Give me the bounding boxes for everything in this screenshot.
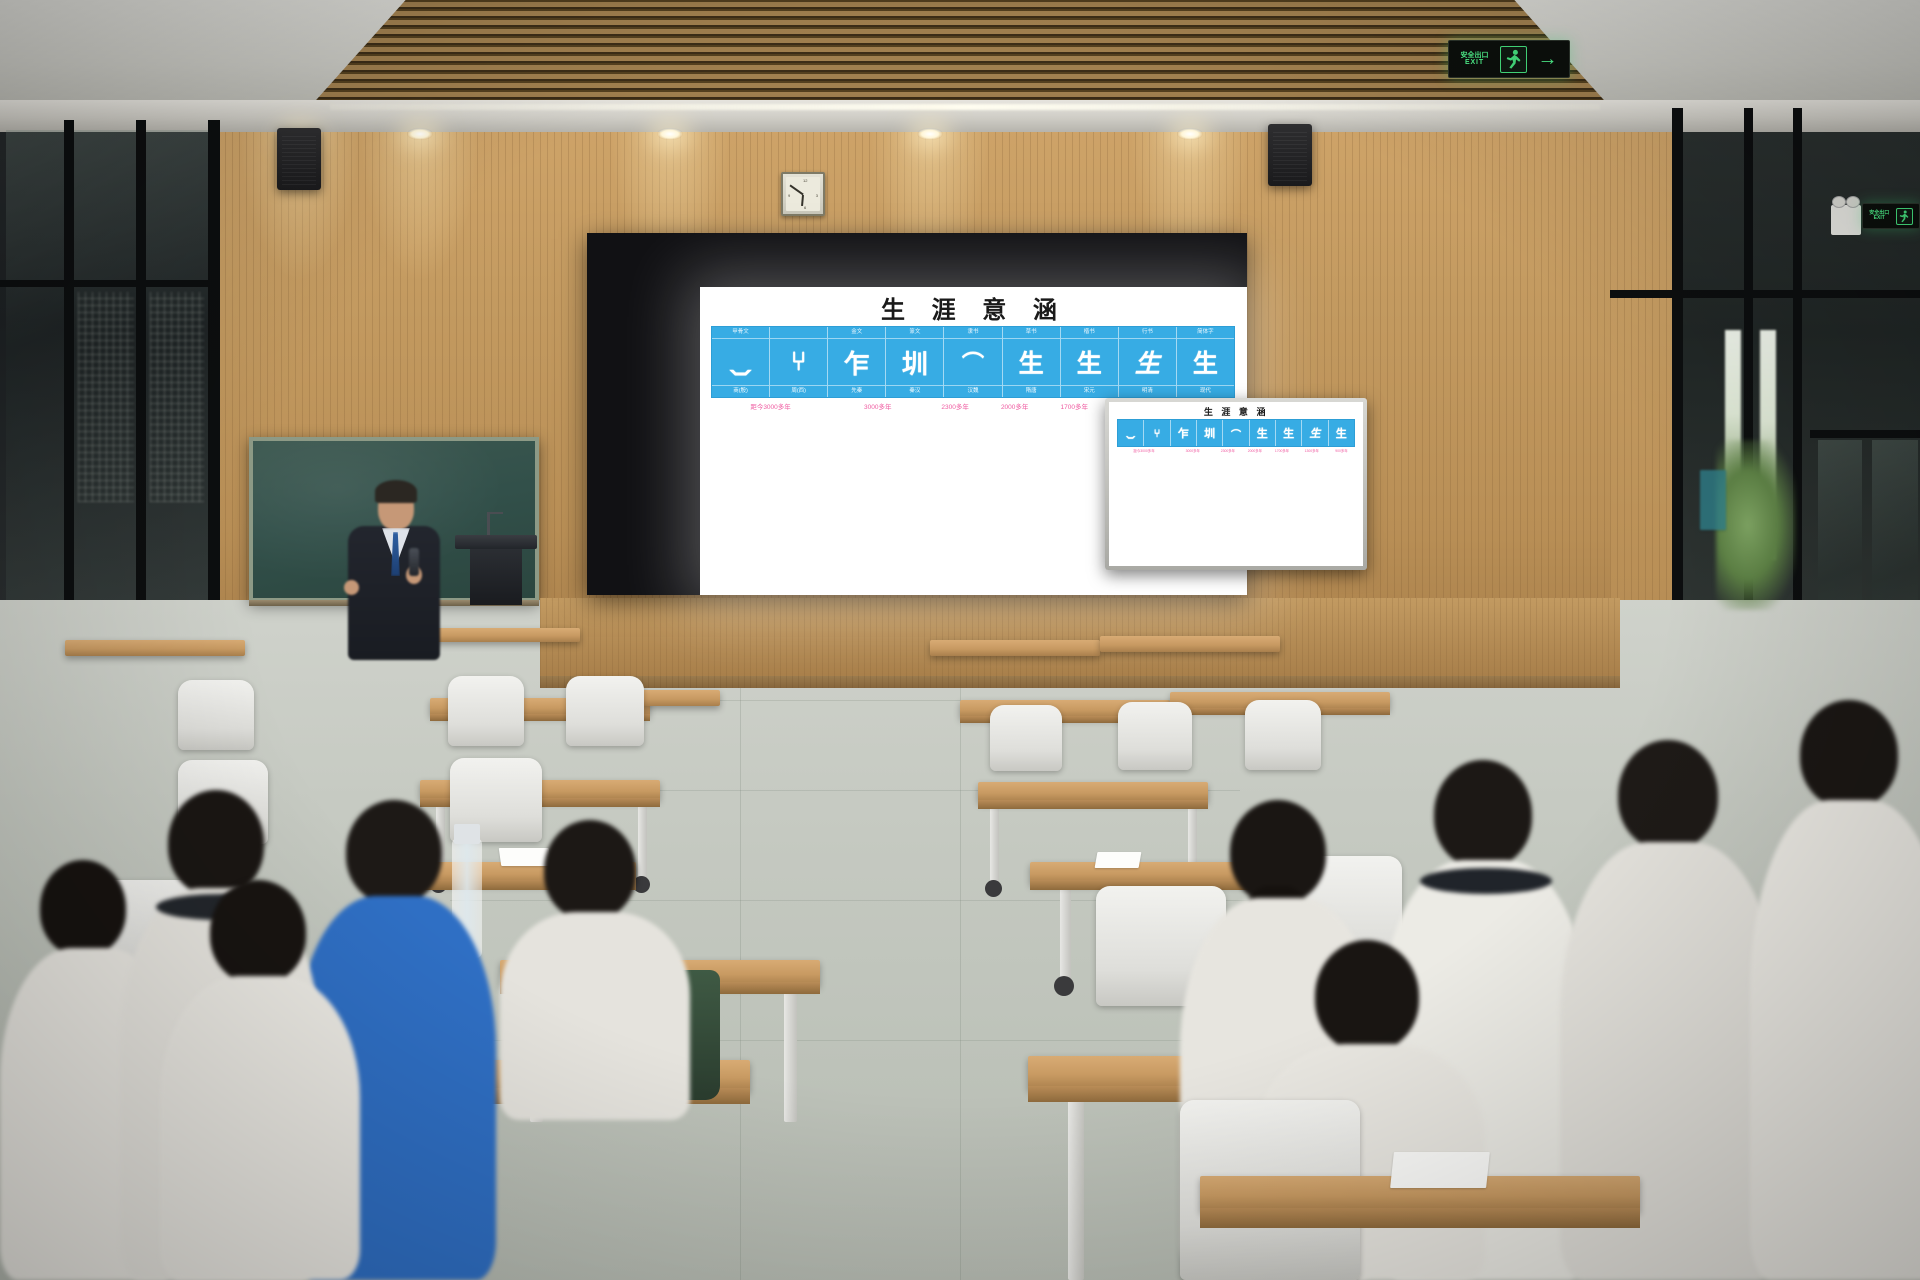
- column-glyph: 生: [1193, 339, 1218, 385]
- monitor-evolution-table: ⏡ ⑂ 乍 圳 ⌒ 生 生 生 生: [1117, 419, 1355, 447]
- wall-speaker-right: [1268, 124, 1312, 186]
- emergency-lamp-head: [1832, 196, 1846, 208]
- table-column: 简体字 生 现代: [1177, 327, 1234, 397]
- column-footer: 明清: [1119, 385, 1176, 397]
- column-glyph: ⑂: [1154, 420, 1161, 446]
- stage-edge: [540, 676, 1620, 688]
- column-glyph: 生: [1257, 420, 1268, 446]
- student: [500, 820, 690, 1120]
- exit-sign-ceiling: 安全出口 EXIT →: [1448, 40, 1570, 78]
- clock-face: 12 3 6 9: [786, 177, 820, 211]
- column-footer: 隋唐: [1003, 385, 1060, 397]
- window-transom: [0, 280, 220, 287]
- table-column: ⑂ 周(西): [770, 327, 828, 397]
- worksheet-paper: [1095, 852, 1142, 868]
- exit-running-person-icon: [1500, 46, 1527, 73]
- student-head: [544, 820, 636, 920]
- table-column: 草书 生 隋唐: [1003, 327, 1061, 397]
- wall-wood-skirting: [540, 598, 1620, 678]
- window-mesh-panel: [78, 292, 134, 502]
- clock-tick-12: 12: [803, 178, 807, 183]
- student-head: [40, 860, 126, 956]
- column-header: 行书: [1119, 327, 1176, 339]
- clock-tick-3: 3: [816, 193, 818, 198]
- timeline-note: 900多年: [1328, 448, 1355, 453]
- desk-edge: [978, 800, 1208, 809]
- desk: [1100, 636, 1280, 652]
- column-glyph: 圳: [902, 339, 928, 385]
- podium-mic-arm: [487, 512, 503, 514]
- column-header: 甲骨文: [712, 327, 769, 339]
- column-header: 金文: [828, 327, 885, 339]
- door-transom: [1610, 290, 1920, 298]
- column-glyph: 生: [1077, 339, 1102, 385]
- secondary-display-bezel: 生 涯 意 涵 ⏡ ⑂ 乍 圳 ⌒ 生 生 生 生 距今3000多年 3000多…: [1105, 398, 1367, 570]
- table-column: 隶书 ⌒ 汉魏: [944, 327, 1002, 397]
- wall-speaker-left: [277, 128, 321, 190]
- exit-label-en: EXIT: [1869, 216, 1889, 221]
- desk-caster: [985, 880, 1002, 897]
- classroom-scene: 12 3 6 9 安全出口 EXIT: [0, 0, 1920, 1280]
- worksheet-paper: [1390, 1152, 1490, 1188]
- column-footer: 周(西): [770, 385, 827, 397]
- chair: [448, 676, 524, 746]
- student-head: [1434, 760, 1532, 868]
- column-glyph: ⌒: [1231, 420, 1241, 446]
- glass-pane: [6, 130, 64, 600]
- timeline-note: 2300多年: [1214, 448, 1241, 453]
- column-header: [770, 327, 827, 339]
- downlight: [407, 128, 433, 140]
- column-glyph: 乍: [844, 339, 870, 385]
- emergency-light: [1831, 205, 1861, 235]
- table-column: 生: [1302, 420, 1328, 446]
- timeline-note: 2000多年: [985, 401, 1045, 411]
- table-column: ⑂: [1144, 420, 1170, 446]
- secondary-display-screen[interactable]: 生 涯 意 涵 ⏡ ⑂ 乍 圳 ⌒ 生 生 生 生 距今3000多年 3000多…: [1109, 402, 1363, 566]
- chair: [566, 676, 644, 746]
- column-footer: 商(殷): [712, 385, 769, 397]
- column-glyph: 生: [1283, 420, 1294, 446]
- column-footer: 汉魏: [944, 385, 1001, 397]
- table-column: 篆文 圳 秦汉: [886, 327, 944, 397]
- presenter-hand-gesture: [344, 580, 359, 595]
- column-glyph: ⑂: [791, 339, 807, 385]
- exit-sign-label: 安全出口 EXIT: [1869, 211, 1889, 221]
- presenter-hair: [375, 480, 417, 503]
- monitor-timeline-notes: 距今3000多年 3000多年 2300多年 2000多年 1700多年 130…: [1117, 448, 1355, 453]
- student-head: [1800, 700, 1898, 808]
- desk-caster: [1054, 976, 1074, 996]
- chair: [990, 705, 1062, 771]
- student-head: [1618, 740, 1718, 850]
- column-footer: 宋元: [1061, 385, 1118, 397]
- running-person-glyph: [1898, 210, 1910, 223]
- microphone: [409, 548, 419, 576]
- door-frame-bottom: [1810, 430, 1920, 438]
- column-glyph: 圳: [1204, 420, 1215, 446]
- timeline-note: 2000多年: [1241, 448, 1268, 453]
- student-head: [210, 880, 306, 984]
- student-head: [1315, 940, 1419, 1052]
- student-body: [1750, 800, 1920, 1280]
- clock-tick-6: 6: [804, 205, 806, 210]
- timeline-note: 距今3000多年: [1117, 448, 1171, 453]
- column-header: 草书: [1003, 327, 1060, 339]
- student: [1750, 700, 1920, 1280]
- desk-leg: [1060, 888, 1071, 980]
- podium-body: [470, 549, 522, 605]
- column-glyph: ⏡: [1126, 420, 1135, 446]
- exit-label-cn: 安全出口: [1461, 52, 1489, 59]
- slide-title: 生 涯 意 涵: [700, 290, 1247, 325]
- table-column: 生: [1329, 420, 1354, 446]
- timeline-note: 3000多年: [1171, 448, 1214, 453]
- column-glyph: 乍: [1178, 420, 1189, 446]
- column-header: 简体字: [1177, 327, 1234, 339]
- column-glyph: 生: [1309, 420, 1320, 446]
- table-column: 生: [1250, 420, 1276, 446]
- chair: [178, 680, 254, 750]
- desk: [930, 640, 1100, 656]
- cove-light-strip: [330, 104, 1600, 110]
- desk: [978, 782, 1208, 802]
- running-person-glyph: [1504, 49, 1523, 70]
- table-column: 甲骨文 ⏡ 商(殷): [712, 327, 770, 397]
- student: [160, 880, 360, 1280]
- floor-joint: [960, 660, 961, 1280]
- column-footer: 现代: [1177, 385, 1234, 397]
- timeline-note: 1300多年: [1296, 448, 1328, 453]
- timeline-note: 3000多年: [830, 401, 925, 411]
- timeline-note: 距今3000多年: [711, 401, 830, 411]
- desk: [640, 690, 720, 706]
- exit-sign-label: 安全出口 EXIT: [1461, 52, 1489, 66]
- student-head: [346, 800, 442, 904]
- student-collar-stripe: [1420, 868, 1552, 894]
- column-glyph: 生: [1135, 339, 1160, 385]
- timeline-note: 1700多年: [1268, 448, 1295, 453]
- column-header: 篆文: [886, 327, 943, 339]
- window-mullion: [136, 120, 146, 620]
- outdoor-foliage: [1716, 440, 1796, 610]
- monitor-slide-title: 生 涯 意 涵: [1109, 405, 1363, 418]
- emergency-lamp-head: [1846, 196, 1860, 208]
- exit-sign-right: 安全出口 EXIT: [1862, 203, 1920, 229]
- column-header: 楷书: [1061, 327, 1118, 339]
- exit-running-person-icon: [1896, 208, 1913, 225]
- desk-leg: [1068, 1100, 1084, 1280]
- table-column: 行书 生 明清: [1119, 327, 1177, 397]
- table-column: 楷书 生 宋元: [1061, 327, 1119, 397]
- clock-tick-9: 9: [788, 193, 790, 198]
- timeline-note: 1700多年: [1044, 401, 1104, 411]
- column-glyph: ⏡: [730, 339, 751, 385]
- column-glyph: ⌒: [962, 339, 984, 385]
- desk-leg: [990, 806, 999, 884]
- wall-notice-sign: [1700, 470, 1726, 530]
- downlight: [657, 128, 683, 140]
- table-column: ⏡: [1118, 420, 1144, 446]
- student-body: [160, 976, 360, 1280]
- chair: [1245, 700, 1321, 770]
- window-mesh-panel: [150, 292, 204, 502]
- podium-desktop: [455, 535, 537, 549]
- table-column: 乍: [1171, 420, 1197, 446]
- slide-evolution-table: 甲骨文 ⏡ 商(殷) ⑂ 周(西) 金文 乍 先秦 篆文 圳 秦汉: [711, 326, 1235, 398]
- table-column: 金文 乍 先秦: [828, 327, 886, 397]
- window-mullion: [208, 120, 220, 620]
- table-column: ⌒: [1223, 420, 1249, 446]
- column-footer: 秦汉: [886, 385, 943, 397]
- column-footer: 先秦: [828, 385, 885, 397]
- downlight: [917, 128, 943, 140]
- column-glyph: 生: [1336, 420, 1347, 446]
- timeline-note: 2300多年: [925, 401, 985, 411]
- exit-arrow-icon: →: [1538, 48, 1558, 71]
- student-body: [500, 912, 690, 1120]
- table-column: 圳: [1197, 420, 1223, 446]
- table-column: 生: [1276, 420, 1302, 446]
- wall-clock: 12 3 6 9: [781, 172, 825, 216]
- exit-label-en: EXIT: [1461, 59, 1489, 66]
- desk-leg: [784, 992, 797, 1122]
- downlight: [1177, 128, 1203, 140]
- column-header: 隶书: [944, 327, 1001, 339]
- desk-edge: [1200, 1208, 1640, 1228]
- desk: [65, 640, 245, 656]
- window-mullion: [64, 120, 74, 620]
- column-glyph: 生: [1019, 339, 1044, 385]
- clock-minute-hand: [789, 185, 803, 195]
- chair: [1118, 702, 1192, 770]
